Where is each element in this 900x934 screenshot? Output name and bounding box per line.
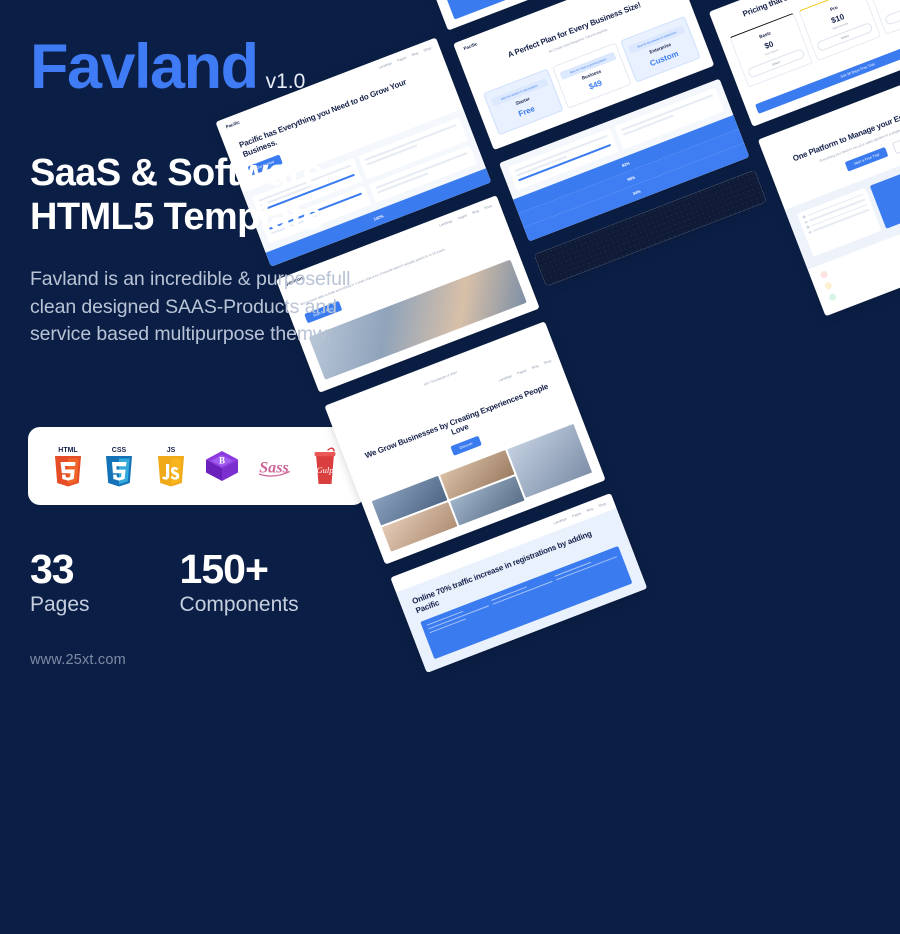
nav-link[interactable]: Shop [598,502,607,509]
nav-link[interactable]: Landings [553,517,567,526]
nav-link[interactable]: Shop [543,358,552,365]
nav-link[interactable]: Pages [457,213,467,220]
nav-link[interactable]: Pages [572,511,582,518]
description-line1: Favland is an incredible & purposefull [30,266,420,294]
star-icon [824,282,833,291]
hero-left-panel: Favland v1.0 SaaS & Software HTML5 Templ… [0,0,420,680]
brand-name: Favland [30,36,258,99]
nav-link[interactable]: Shop [483,203,492,210]
brand-logo: Favland v1.0 [30,36,420,99]
nav-link[interactable]: Blog [531,363,539,369]
alert-icon [820,270,829,279]
nav-link[interactable]: Blog [472,208,480,214]
nav-link[interactable]: Blog [586,507,594,513]
description-line3: service based multipurpose themw. [30,321,420,349]
nav-link[interactable]: Pages [517,368,527,375]
nav-link[interactable]: Landings [498,374,512,383]
description-line2: clean designed SAAS-Products and [30,294,420,322]
screen-brand: Pacific [463,41,478,51]
page-title-line2: HTML5 Template [30,195,420,239]
page-title: SaaS & Software HTML5 Template [30,151,420,240]
page-title-line1: SaaS & Software [30,151,420,195]
brand-version: v1.0 [266,70,306,94]
check-icon [828,293,837,302]
nav-link[interactable]: Shop [423,46,432,53]
plan-card-pro[interactable]: Pro $10 Billed annually Select [798,0,881,62]
page-description: Favland is an incredible & purposefull c… [30,266,420,349]
screen-cta-button[interactable]: Discover [450,436,482,456]
nav-link[interactable]: Landings [438,218,452,227]
